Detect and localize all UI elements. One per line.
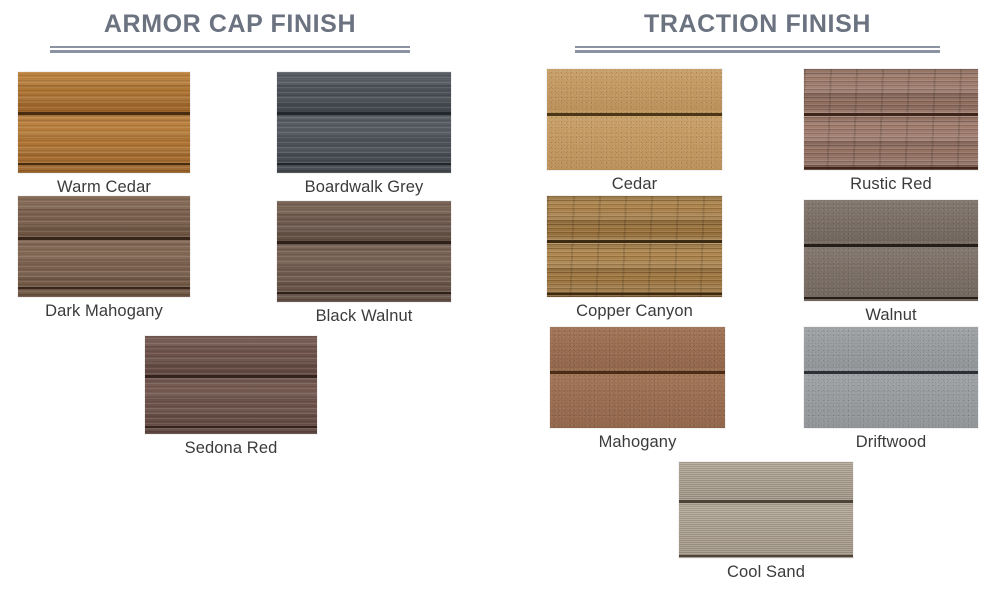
section-traction: TRACTION FINISH bbox=[575, 12, 940, 53]
swatch-chip[interactable] bbox=[550, 327, 725, 428]
swatch-card-rustic-red[interactable]: Rustic Red bbox=[804, 69, 978, 170]
swatch-grain-texture bbox=[277, 201, 451, 302]
swatch-card-copper-canyon[interactable]: Copper Canyon bbox=[547, 196, 722, 297]
swatch-label: Walnut bbox=[804, 306, 978, 325]
swatch-card-mahogany[interactable]: Mahogany bbox=[550, 327, 725, 428]
swatch-grain-texture bbox=[145, 336, 317, 434]
swatch-chip[interactable] bbox=[679, 462, 853, 558]
swatch-card-warm-cedar[interactable]: Warm Cedar bbox=[18, 72, 190, 173]
swatch-label: Cedar bbox=[547, 175, 722, 194]
rule-line-thin bbox=[575, 46, 940, 48]
swatch-grain-texture bbox=[804, 200, 978, 301]
swatch-label: Warm Cedar bbox=[18, 178, 190, 197]
swatch-seam-line bbox=[804, 113, 978, 116]
swatch-label: Boardwalk Grey bbox=[277, 178, 451, 197]
section-rule-traction bbox=[575, 46, 940, 53]
section-armor-cap: ARMOR CAP FINISH bbox=[50, 12, 410, 53]
swatch-chip[interactable] bbox=[547, 196, 722, 297]
rule-line-thick bbox=[575, 50, 940, 53]
swatch-band-shading bbox=[679, 462, 853, 558]
swatch-grain-texture bbox=[18, 72, 190, 173]
swatch-seam-line bbox=[804, 297, 978, 299]
swatch-seam-line bbox=[145, 375, 317, 378]
swatch-seam-line bbox=[679, 500, 853, 503]
swatch-card-cool-sand[interactable]: Cool Sand bbox=[679, 462, 853, 558]
swatch-grain-texture bbox=[277, 72, 451, 173]
swatch-label: Cool Sand bbox=[679, 563, 853, 582]
swatch-chip[interactable] bbox=[18, 196, 190, 297]
swatch-band-shading bbox=[145, 336, 317, 434]
swatch-label: Copper Canyon bbox=[547, 302, 722, 321]
swatch-grain-texture bbox=[547, 69, 722, 170]
swatch-seam-line bbox=[277, 241, 451, 244]
swatch-seam-line bbox=[550, 371, 725, 374]
swatch-grain-texture bbox=[804, 327, 978, 428]
section-title-armor-cap: ARMOR CAP FINISH bbox=[50, 12, 410, 37]
swatch-band-shading bbox=[18, 196, 190, 297]
swatch-band-shading bbox=[804, 69, 978, 170]
swatch-grain-texture bbox=[804, 69, 978, 170]
swatch-label: Black Walnut bbox=[277, 307, 451, 326]
rule-line-thick bbox=[50, 50, 410, 53]
swatch-chip[interactable] bbox=[277, 201, 451, 302]
swatch-seam-line bbox=[18, 237, 190, 240]
swatch-seam-line bbox=[277, 163, 451, 165]
swatch-seam-line bbox=[145, 426, 317, 428]
swatch-band-shading bbox=[18, 72, 190, 173]
swatch-card-dark-mahogany[interactable]: Dark Mahogany bbox=[18, 196, 190, 297]
swatch-label: Driftwood bbox=[804, 433, 978, 452]
swatch-band-shading bbox=[547, 69, 722, 170]
swatch-band-shading bbox=[550, 327, 725, 428]
swatch-grain-texture bbox=[18, 196, 190, 297]
swatch-seam-line bbox=[804, 167, 978, 169]
swatch-grain-texture bbox=[547, 196, 722, 297]
swatch-card-sedona-red[interactable]: Sedona Red bbox=[145, 336, 317, 434]
swatch-seam-line bbox=[277, 292, 451, 294]
swatch-board: ARMOR CAP FINISH TRACTION FINISH Warm Ce… bbox=[0, 0, 1000, 600]
swatch-seam-line bbox=[679, 555, 853, 557]
swatch-label: Sedona Red bbox=[145, 439, 317, 458]
section-title-traction: TRACTION FINISH bbox=[575, 12, 940, 37]
section-rule-armor-cap bbox=[50, 46, 410, 53]
swatch-seam-line bbox=[277, 112, 451, 115]
swatch-seam-line bbox=[18, 112, 190, 115]
swatch-label: Mahogany bbox=[550, 433, 725, 452]
swatch-card-driftwood[interactable]: Driftwood bbox=[804, 327, 978, 428]
swatch-chip[interactable] bbox=[804, 200, 978, 301]
swatch-card-boardwalk-grey[interactable]: Boardwalk Grey bbox=[277, 72, 451, 173]
swatch-chip[interactable] bbox=[145, 336, 317, 434]
swatch-seam-line bbox=[547, 240, 722, 243]
swatch-chip[interactable] bbox=[804, 69, 978, 170]
swatch-chip[interactable] bbox=[277, 72, 451, 173]
swatch-card-black-walnut[interactable]: Black Walnut bbox=[277, 201, 451, 302]
rule-line-thin bbox=[50, 46, 410, 48]
swatch-chip[interactable] bbox=[18, 72, 190, 173]
swatch-seam-line bbox=[547, 293, 722, 295]
swatch-seam-line bbox=[804, 371, 978, 374]
swatch-band-shading bbox=[804, 327, 978, 428]
swatch-label: Dark Mahogany bbox=[18, 302, 190, 321]
swatch-band-shading bbox=[277, 201, 451, 302]
swatch-seam-line bbox=[547, 113, 722, 116]
swatch-seam-line bbox=[18, 163, 190, 165]
swatch-label: Rustic Red bbox=[804, 175, 978, 194]
swatch-grain-texture bbox=[679, 462, 853, 558]
swatch-band-shading bbox=[547, 196, 722, 297]
swatch-band-shading bbox=[804, 200, 978, 301]
swatch-band-shading bbox=[277, 72, 451, 173]
swatch-chip[interactable] bbox=[804, 327, 978, 428]
swatch-seam-line bbox=[804, 244, 978, 247]
swatch-card-cedar[interactable]: Cedar bbox=[547, 69, 722, 170]
swatch-grain-texture bbox=[550, 327, 725, 428]
swatch-seam-line bbox=[18, 287, 190, 289]
swatch-card-walnut[interactable]: Walnut bbox=[804, 200, 978, 301]
swatch-chip[interactable] bbox=[547, 69, 722, 170]
